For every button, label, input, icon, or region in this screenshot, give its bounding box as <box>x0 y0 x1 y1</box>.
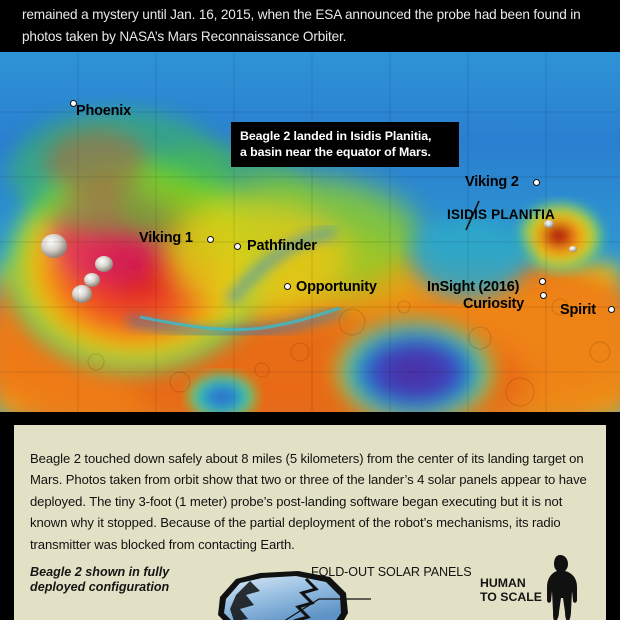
map-label-insight: InSight (2016) <box>427 280 519 295</box>
map-label-viking-1: Viking 1 <box>139 231 193 246</box>
probe-caption: Beagle 2 shown in fully deployed configu… <box>30 565 200 595</box>
callout-line-1: Beagle 2 landed in Isidis Planitia, <box>240 128 450 144</box>
callout-line-2: a basin near the equator of Mars. <box>240 144 450 160</box>
probe-caption-line-1: Beagle 2 shown in fully <box>30 565 200 580</box>
solar-panels-label: FOLD-OUT SOLAR PANELS <box>311 565 472 579</box>
site-dot-curiosity[interactable] <box>540 292 547 299</box>
site-dot-phoenix[interactable] <box>70 100 77 107</box>
region-label-isidis-planitia: ISIDIS PLANITIA <box>447 207 555 222</box>
map-label-opportunity: Opportunity <box>296 280 377 295</box>
infographic-page: remained a mystery until Jan. 16, 2015, … <box>0 0 620 620</box>
site-dot-insight[interactable] <box>539 278 546 285</box>
intro-paragraph: remained a mystery until Jan. 16, 2015, … <box>22 4 598 48</box>
map-label-phoenix: Phoenix <box>76 104 131 119</box>
map-label-curiosity: Curiosity <box>463 297 524 312</box>
map-label-pathfinder: Pathfinder <box>247 239 317 254</box>
site-dot-viking-2[interactable] <box>533 179 540 186</box>
site-dot-pathfinder[interactable] <box>234 243 241 250</box>
human-silhouette-icon <box>532 553 588 620</box>
description-panel: Beagle 2 touched down safely about 8 mil… <box>14 425 606 620</box>
body-paragraph: Beagle 2 touched down safely about 8 mil… <box>30 448 588 555</box>
site-dot-spirit[interactable] <box>608 306 615 313</box>
intro-text-band: remained a mystery until Jan. 16, 2015, … <box>0 0 620 52</box>
probe-caption-line-2: deployed configuration <box>30 580 200 595</box>
callout-box: Beagle 2 landed in Isidis Planitia, a ba… <box>231 122 459 167</box>
site-dot-viking-1[interactable] <box>207 236 214 243</box>
map-label-viking-2: Viking 2 <box>465 175 519 190</box>
mars-topographic-map: ISIDIS PLANITIA Phoenix Viking 1 Pathfin… <box>0 52 620 412</box>
site-dot-opportunity[interactable] <box>284 283 291 290</box>
solar-panel-leader-line <box>279 585 399 620</box>
lower-section: Beagle 2 touched down safely about 8 mil… <box>0 412 620 620</box>
map-label-spirit: Spirit <box>560 303 596 318</box>
